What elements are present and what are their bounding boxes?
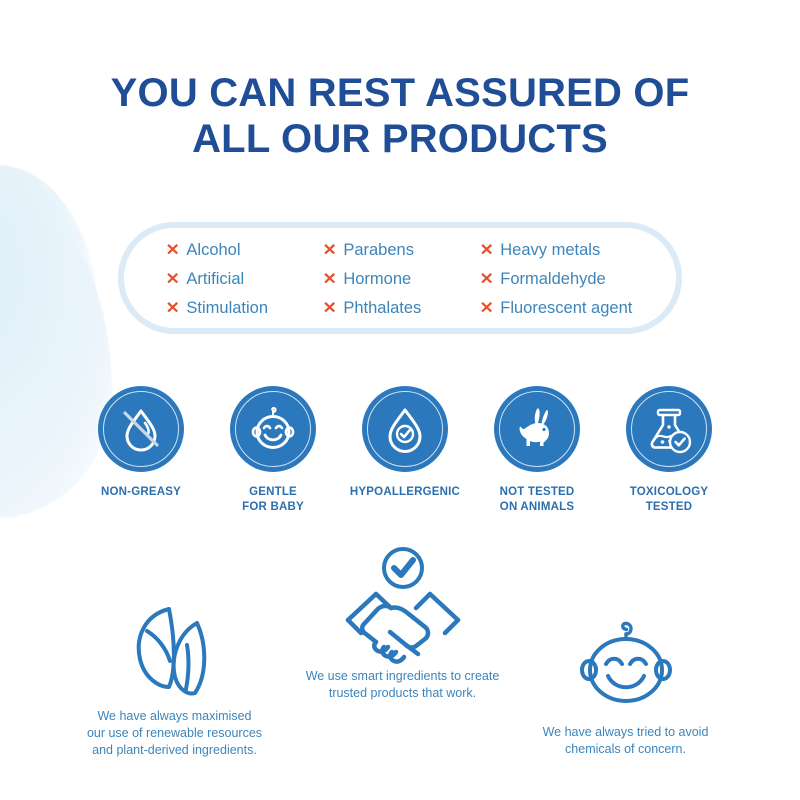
badge-label-line: ON ANIMALS: [500, 500, 575, 515]
statement-smart-ingredients: We use smart ingredients to create trust…: [300, 560, 505, 702]
free-from-item: ✕ Artificial: [166, 269, 323, 298]
free-from-label: Alcohol: [186, 241, 240, 260]
statement-text: We have always tried to avoid chemicals …: [543, 724, 709, 758]
badge-not-tested-on-animals: NOT TESTED ON ANIMALS: [476, 386, 598, 515]
free-from-column-1: ✕ Alcohol ✕ Artificial ✕ Stimulation: [166, 240, 323, 328]
free-from-label: Artificial: [186, 270, 244, 289]
badge-label-line: FOR BABY: [242, 500, 304, 515]
free-from-label: Stimulation: [186, 299, 268, 318]
cross-mark-icon: ✕: [480, 298, 494, 318]
free-from-item: ✕ Heavy metals: [480, 240, 676, 269]
free-from-label: Fluorescent agent: [500, 299, 632, 318]
statement-text-line: We have always maximised: [87, 708, 262, 725]
free-from-panel: ✕ Alcohol ✕ Artificial ✕ Stimulation ✕ P…: [118, 222, 682, 334]
assurance-infographic: YOU CAN REST ASSURED OF ALL OUR PRODUCTS…: [0, 0, 800, 800]
badge-label: TOXICOLOGY TESTED: [630, 485, 708, 515]
free-from-item: ✕ Hormone: [323, 269, 480, 298]
free-from-item: ✕ Alcohol: [166, 240, 323, 269]
cross-mark-icon: ✕: [480, 269, 494, 289]
free-from-item: ✕ Formaldehyde: [480, 269, 676, 298]
badge-label-line: TESTED: [630, 500, 708, 515]
cross-mark-icon: ✕: [323, 240, 337, 260]
flask-check-icon: [639, 399, 699, 459]
statement-text-line: and plant-derived ingredients.: [87, 742, 262, 759]
badge-label: NON-GREASY: [101, 485, 181, 500]
free-from-column-3: ✕ Heavy metals ✕ Formaldehyde ✕ Fluoresc…: [480, 240, 676, 328]
baby-smile-icon: [568, 619, 684, 711]
badge-label: GENTLE FOR BABY: [242, 485, 304, 515]
statement-icon-wrap: [328, 560, 478, 658]
badge-label: HYPOALLERGENIC: [350, 485, 460, 500]
statement-icon-wrap: [568, 616, 684, 714]
cross-mark-icon: ✕: [166, 240, 180, 260]
badge-circle: [494, 386, 580, 472]
badge-hypoallergenic: HYPOALLERGENIC: [344, 386, 466, 515]
badge-label-line: NON-GREASY: [101, 485, 181, 500]
leaves-icon: [123, 601, 227, 697]
badge-circle: [230, 386, 316, 472]
free-from-item: ✕ Parabens: [323, 240, 480, 269]
badge-label-line: HYPOALLERGENIC: [350, 485, 460, 500]
statement-avoid-chemicals: We have always tried to avoid chemicals …: [518, 616, 733, 758]
free-from-label: Parabens: [343, 241, 414, 260]
badge-label-line: NOT TESTED: [500, 485, 575, 500]
badge-circle: [98, 386, 184, 472]
free-from-item: ✕ Stimulation: [166, 298, 323, 327]
badge-label-line: GENTLE: [242, 485, 304, 500]
badge-gentle-for-baby: GENTLE FOR BABY: [212, 386, 334, 515]
baby-face-icon: [243, 399, 303, 459]
handshake-check-icon: [328, 544, 478, 674]
free-from-label: Hormone: [343, 270, 411, 289]
page-title-line-1: YOU CAN REST ASSURED OF: [111, 71, 690, 115]
badge-circle: [626, 386, 712, 472]
statement-text-line: our use of renewable resources: [87, 725, 262, 742]
free-from-column-2: ✕ Parabens ✕ Hormone ✕ Phthalates: [323, 240, 480, 328]
free-from-label: Formaldehyde: [500, 270, 605, 289]
page-title: YOU CAN REST ASSURED OF ALL OUR PRODUCTS: [0, 70, 800, 162]
rabbit-icon: [507, 399, 567, 459]
badge-toxicology-tested: TOXICOLOGY TESTED: [608, 386, 730, 515]
statement-renewable-resources: We have always maximised our use of rene…: [72, 600, 277, 759]
droplet-check-icon: [375, 399, 435, 459]
free-from-item: ✕ Phthalates: [323, 298, 480, 327]
cross-mark-icon: ✕: [323, 269, 337, 289]
page-title-line-2: ALL OUR PRODUCTS: [0, 116, 800, 162]
cross-mark-icon: ✕: [323, 298, 337, 318]
cross-mark-icon: ✕: [166, 298, 180, 318]
free-from-item: ✕ Fluorescent agent: [480, 298, 676, 327]
droplet-crossed-icon: [111, 399, 171, 459]
badge-label-line: TOXICOLOGY: [630, 485, 708, 500]
statement-text: We have always maximised our use of rene…: [87, 708, 262, 759]
statement-text-line: chemicals of concern.: [543, 741, 709, 758]
statement-text: We use smart ingredients to create trust…: [306, 668, 500, 702]
free-from-label: Phthalates: [343, 299, 421, 318]
cross-mark-icon: ✕: [166, 269, 180, 289]
certification-badge-row: NON-GREASY GENTLE FOR BABY: [80, 386, 730, 515]
statement-text-line: We use smart ingredients to create: [306, 668, 500, 685]
badge-non-greasy: NON-GREASY: [80, 386, 202, 515]
statement-icon-wrap: [123, 600, 227, 698]
badge-label: NOT TESTED ON ANIMALS: [500, 485, 575, 515]
badge-circle: [362, 386, 448, 472]
cross-mark-icon: ✕: [480, 240, 494, 260]
free-from-label: Heavy metals: [500, 241, 600, 260]
statement-text-line: We have always tried to avoid: [543, 724, 709, 741]
statement-text-line: trusted products that work.: [306, 685, 500, 702]
